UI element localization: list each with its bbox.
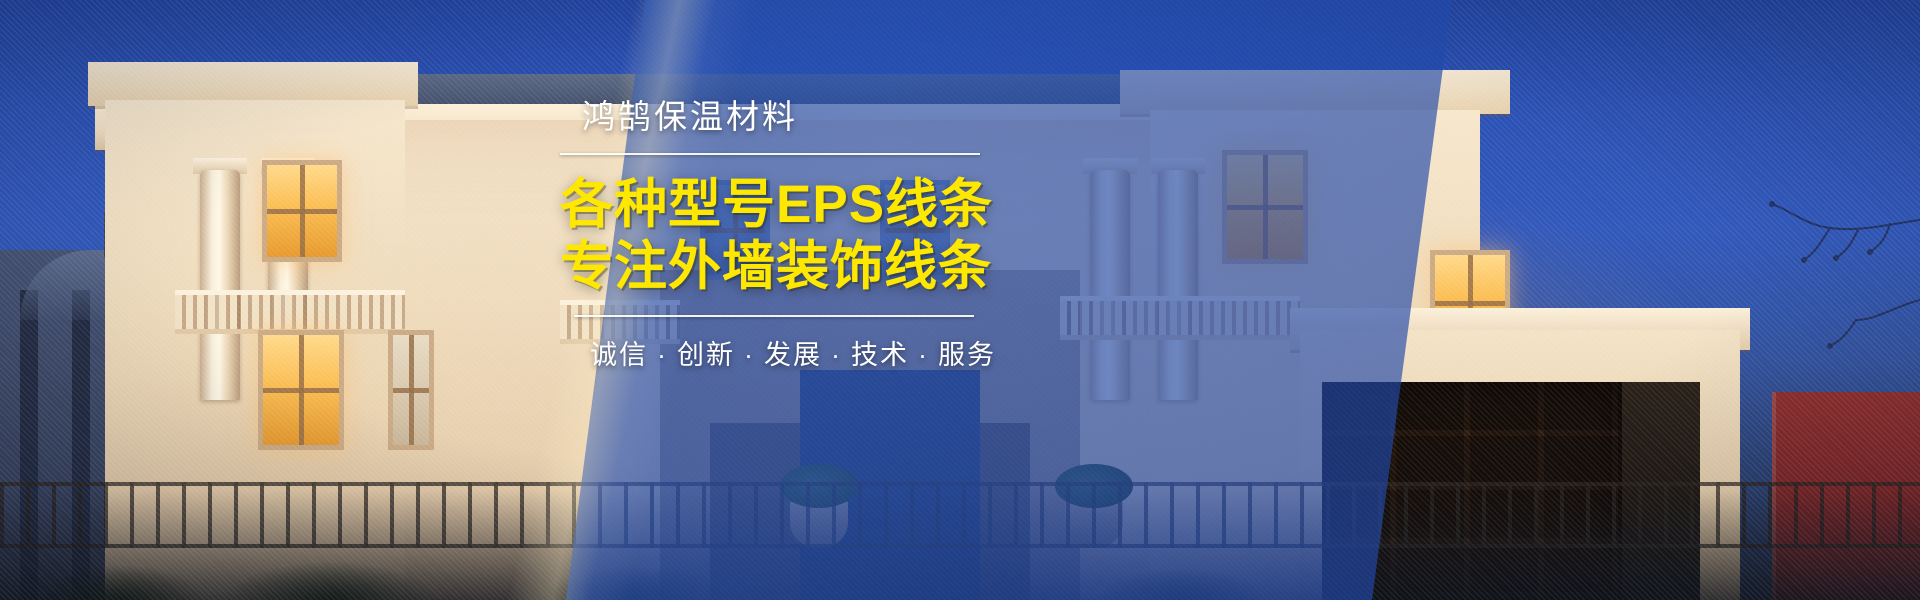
tagline-separator: ·	[918, 340, 929, 370]
tagline-item-1: 诚信	[590, 340, 648, 370]
tagline-item-5: 服务	[938, 340, 996, 370]
tagline-separator: ·	[831, 340, 842, 370]
tagline-separator: ·	[744, 340, 755, 370]
brand-name: 鸿鹄保温材料	[582, 96, 1030, 137]
tagline: 诚信·创新·发展·技术·服务	[590, 333, 1030, 372]
tagline-item-2: 创新	[677, 340, 735, 370]
tagline-item-3: 发展	[764, 340, 822, 370]
banner-copy: 鸿鹄保温材料 各种型号EPS线条 专注外墙装饰线条 诚信·创新·发展·技术·服务	[560, 96, 1030, 372]
tagline-separator: ·	[657, 340, 668, 370]
headline-line-2: 专注外墙装饰线条	[560, 237, 1030, 297]
hero-banner: 鸿鹄保温材料 各种型号EPS线条 专注外墙装饰线条 诚信·创新·发展·技术·服务	[0, 0, 1920, 600]
tagline-item-4: 技术	[851, 340, 909, 370]
headline-line-1: 各种型号EPS线条	[560, 175, 1030, 235]
divider-bottom	[574, 315, 974, 317]
divider-top	[560, 153, 980, 155]
